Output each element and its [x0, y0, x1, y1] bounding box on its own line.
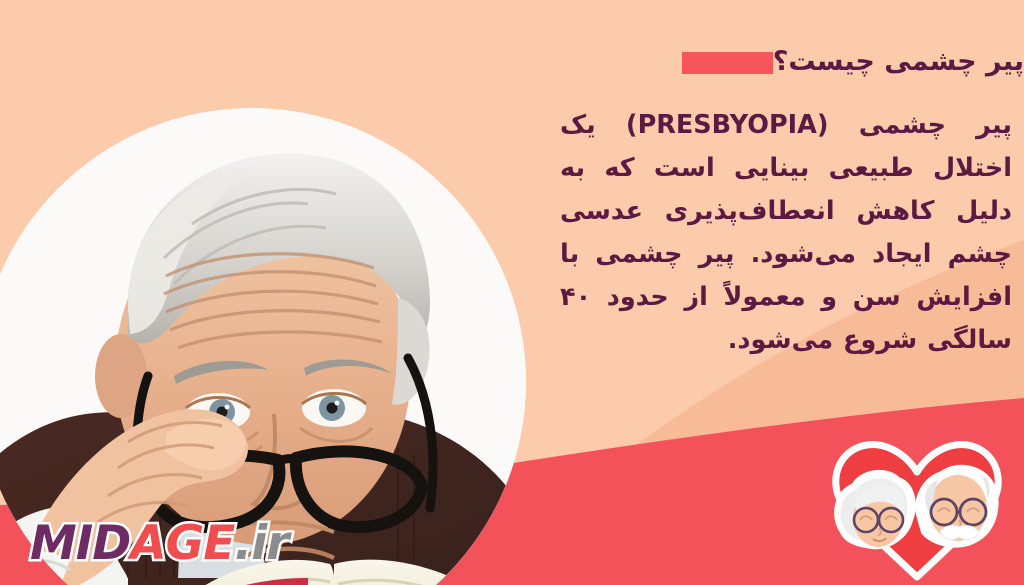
elderly-couple-heart-badge: [828, 432, 1006, 582]
site-logo[interactable]: MIDAGE.ir: [30, 520, 289, 567]
logo-part-mid: MID: [30, 516, 130, 571]
elderly-man-face: [918, 468, 995, 545]
eye-right: [302, 389, 366, 427]
logo-part-tld: .ir: [234, 516, 288, 571]
title-row: پیر چشمی چیست؟: [512, 40, 1024, 86]
title-accent-bar: [682, 52, 773, 74]
poster-canvas: پیر چشمی چیست؟ پیر چشمی (PRESBYOPIA) یک …: [0, 0, 1024, 585]
page-title: پیر چشمی چیست؟: [773, 48, 1024, 78]
body-paragraph: پیر چشمی (PRESBYOPIA) یک اختلال طبیعی بی…: [560, 104, 1012, 362]
logo-part-age: AGE: [130, 516, 234, 571]
